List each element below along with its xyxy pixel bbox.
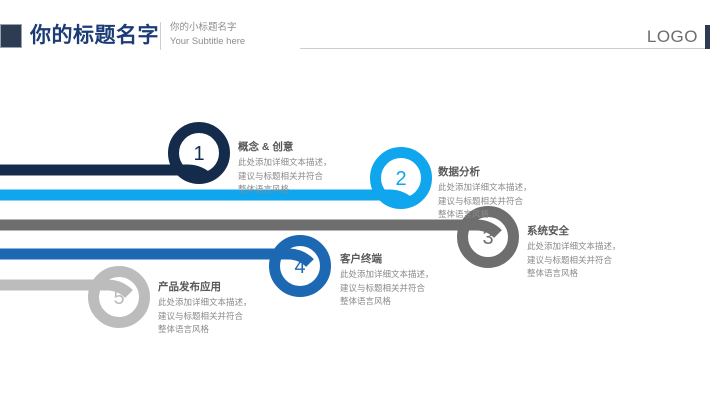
step-number-4: 4 [294, 256, 305, 278]
step-body-line-5-1: 此处添加详细文本描述， [158, 296, 252, 310]
step-body-line-5-3: 整体语言风格 [158, 323, 252, 337]
step-title-4: 客户终端 [340, 252, 434, 267]
step-body-line-2-2: 建议与标题相关并符合 [438, 195, 532, 209]
page-title: 你的标题名字 [30, 22, 159, 50]
logo-accent-bar [705, 25, 710, 49]
slide-canvas: 你的标题名字 你的小标题名字 Your Subtitle here LOGO 5… [0, 0, 720, 405]
step-title-3: 系统安全 [527, 224, 621, 239]
step-body-line-1-3: 整体语言风格 [238, 183, 332, 197]
step-body-line-3-2: 建议与标题相关并符合 [527, 254, 621, 268]
step-title-5: 产品发布应用 [158, 280, 252, 295]
step-body-line-5-2: 建议与标题相关并符合 [158, 310, 252, 324]
step-number-3: 3 [482, 227, 493, 249]
step-body-line-2-1: 此处添加详细文本描述， [438, 181, 532, 195]
step-number-1: 1 [193, 143, 204, 165]
ribbon-step-1: 1 [0, 128, 225, 180]
slide-header: 你的标题名字 你的小标题名字 Your Subtitle here LOGO [0, 0, 720, 72]
step-text-4: 客户终端 此处添加详细文本描述， 建议与标题相关并符合 整体语言风格 [340, 252, 434, 309]
step-number-2: 2 [395, 168, 406, 190]
process-diagram: 5 4 3 2 [0, 72, 720, 405]
step-text-2: 数据分析 此处添加详细文本描述， 建议与标题相关并符合 整体语言风格 [438, 165, 532, 222]
step-title-1: 概念 & 创意 [238, 140, 332, 155]
step-title-2: 数据分析 [438, 165, 532, 180]
subtitle-english: Your Subtitle here [170, 35, 300, 49]
step-body-line-1-1: 此处添加详细文本描述， [238, 156, 332, 170]
step-body-line-4-2: 建议与标题相关并符合 [340, 282, 434, 296]
step-body-line-2-3: 整体语言风格 [438, 208, 532, 222]
ribbon-step-5: 5 [0, 272, 145, 323]
header-divider [160, 22, 161, 50]
step-body-line-3-1: 此处添加详细文本描述， [527, 240, 621, 254]
step-text-1: 概念 & 创意 此处添加详细文本描述， 建议与标题相关并符合 整体语言风格 [238, 140, 332, 197]
header-rule [300, 48, 710, 49]
logo-text: LOGO [647, 27, 698, 47]
step-body-line-3-3: 整体语言风格 [527, 267, 621, 281]
step-body-line-4-1: 此处添加详细文本描述， [340, 268, 434, 282]
step-number-5: 5 [113, 287, 124, 309]
subtitle-block: 你的小标题名字 Your Subtitle here [170, 21, 300, 49]
title-accent-swatch [0, 24, 22, 48]
step-text-3: 系统安全 此处添加详细文本描述， 建议与标题相关并符合 整体语言风格 [527, 224, 621, 281]
step-text-5: 产品发布应用 此处添加详细文本描述， 建议与标题相关并符合 整体语言风格 [158, 280, 252, 337]
step-body-line-4-3: 整体语言风格 [340, 295, 434, 309]
step-body-line-1-2: 建议与标题相关并符合 [238, 170, 332, 184]
subtitle-chinese: 你的小标题名字 [170, 21, 300, 35]
